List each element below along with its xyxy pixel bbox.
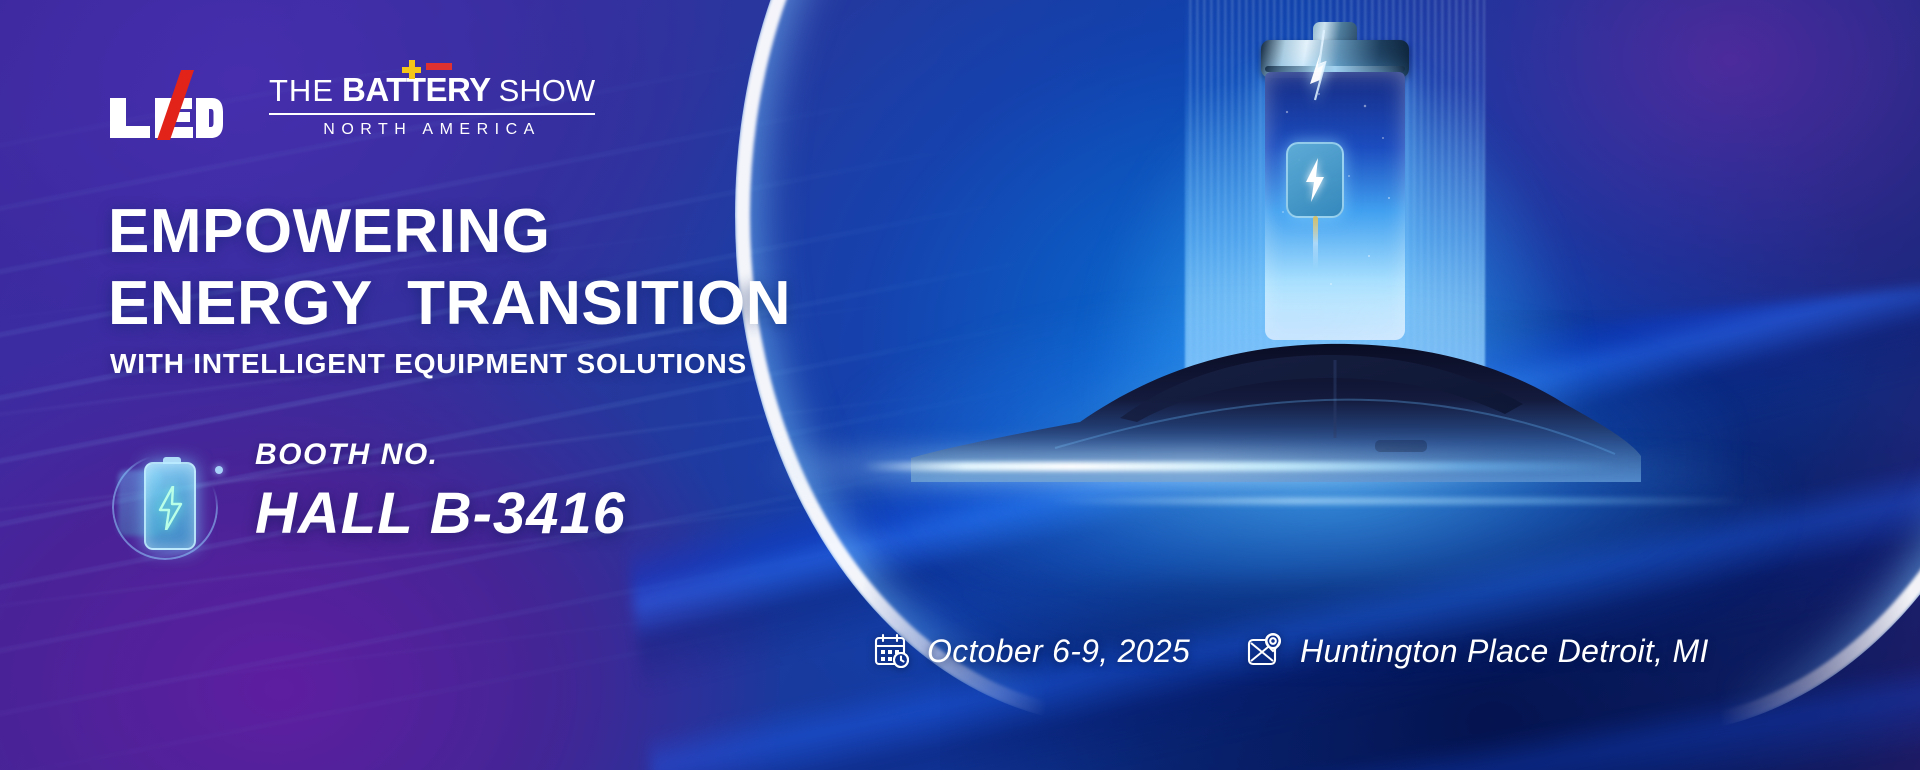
lightning-bolt-icon [1299, 30, 1343, 150]
headline-line-2: ENERGY TRANSITION [108, 268, 791, 340]
event-venue-text: Huntington Place Detroit, MI [1300, 633, 1709, 670]
tbs-the-word: THE [269, 75, 334, 106]
event-info-row: October 6-9, 2025 Huntington Place Detro… [873, 632, 1709, 670]
battery-icon-dot [215, 466, 223, 474]
lead-logo [108, 68, 223, 140]
promo-banner: THE BATTERY SHOW NORTH AMERICA EMPOWERIN… [0, 0, 1920, 770]
subheadline: WITH INTELLIGENT EQUIPMENT SOLUTIONS [110, 348, 747, 380]
light-streak-main [860, 462, 1620, 471]
background-wash-bottom-right [940, 310, 1920, 770]
tbs-show-word: SHOW [499, 75, 595, 106]
calendar-icon [873, 632, 911, 670]
tbs-battery-word: BATTERY [342, 73, 491, 106]
headline-line-1: EMPOWERING [108, 196, 791, 268]
battery-show-logo: THE BATTERY SHOW NORTH AMERICA [269, 69, 595, 139]
event-date-text: October 6-9, 2025 [927, 633, 1190, 670]
booth-label: BOOTH NO. [255, 438, 626, 472]
tbs-divider [269, 113, 595, 115]
light-bands-bottom-right [615, 278, 1920, 770]
minus-symbol-icon [426, 63, 452, 70]
booth-battery-icon [110, 448, 230, 568]
light-streak-soft [760, 450, 1740, 484]
light-streak-low [1050, 498, 1750, 504]
logo-row: THE BATTERY SHOW NORTH AMERICA [108, 68, 595, 140]
electric-car-silhouette [905, 330, 1645, 520]
charge-badge-icon [1286, 142, 1344, 218]
battery-icon-bolt [157, 486, 183, 530]
map-location-icon [1246, 632, 1284, 670]
event-date-item: October 6-9, 2025 [873, 632, 1190, 670]
headline-block: EMPOWERING ENERGY TRANSITION [108, 196, 791, 340]
lead-logo-mark [108, 68, 223, 140]
booth-number: HALL B-3416 [255, 480, 626, 547]
tbs-region-label: NORTH AMERICA [269, 121, 595, 139]
plus-symbol-icon [402, 60, 421, 79]
battery-graphic [1245, 22, 1425, 352]
charge-cable [1313, 216, 1318, 270]
event-venue-item: Huntington Place Detroit, MI [1246, 632, 1709, 670]
booth-block: BOOTH NO. HALL B-3416 [110, 438, 750, 568]
booth-text-block: BOOTH NO. HALL B-3416 [255, 438, 626, 547]
